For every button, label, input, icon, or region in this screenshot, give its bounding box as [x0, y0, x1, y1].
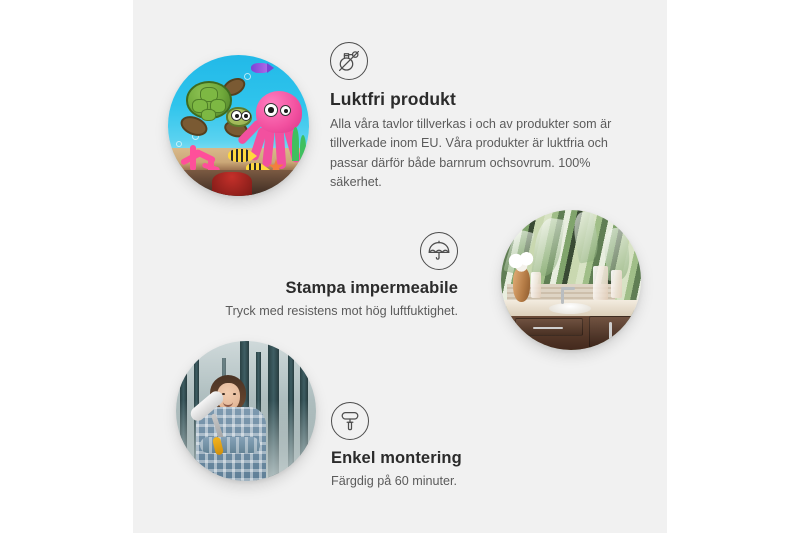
- umbrella-icon: [420, 232, 458, 270]
- feature-title-easy-mounting: Enkel montering: [331, 448, 581, 469]
- feature-description-easy-mounting: Färgdig på 60 minuter.: [331, 472, 581, 492]
- no-perfume-spray-icon: [330, 42, 368, 80]
- promo-infographic: Luktfri produkt Alla våra tavlor tillver…: [0, 0, 800, 533]
- feature-block-odorless: Luktfri produkt Alla våra tavlor tillver…: [330, 42, 622, 193]
- feature-image-underwater-kids-mural: [168, 55, 309, 196]
- feature-image-woman-with-paint-roller-forest-mural: [176, 341, 316, 481]
- feature-block-waterproof: Stampa impermeabile Tryck med resistens …: [222, 232, 458, 321]
- feature-title-odorless: Luktfri produkt: [330, 89, 622, 111]
- feature-title-waterproof: Stampa impermeabile: [222, 278, 458, 299]
- paint-roller-icon: [331, 402, 369, 440]
- feature-description-waterproof: Tryck med resistens mot hög luftfuktighe…: [222, 302, 458, 322]
- feature-image-bathroom-botanical-wallpaper: [501, 210, 641, 350]
- feature-icon-wrap-odorless: [330, 42, 622, 80]
- feature-icon-wrap-easy-mounting: [331, 402, 581, 440]
- feature-description-odorless: Alla våra tavlor tillverkas i och av pro…: [330, 115, 622, 193]
- feature-icon-wrap-waterproof: [222, 232, 458, 270]
- feature-block-easy-mounting: Enkel montering Färgdig på 60 minuter.: [331, 402, 581, 491]
